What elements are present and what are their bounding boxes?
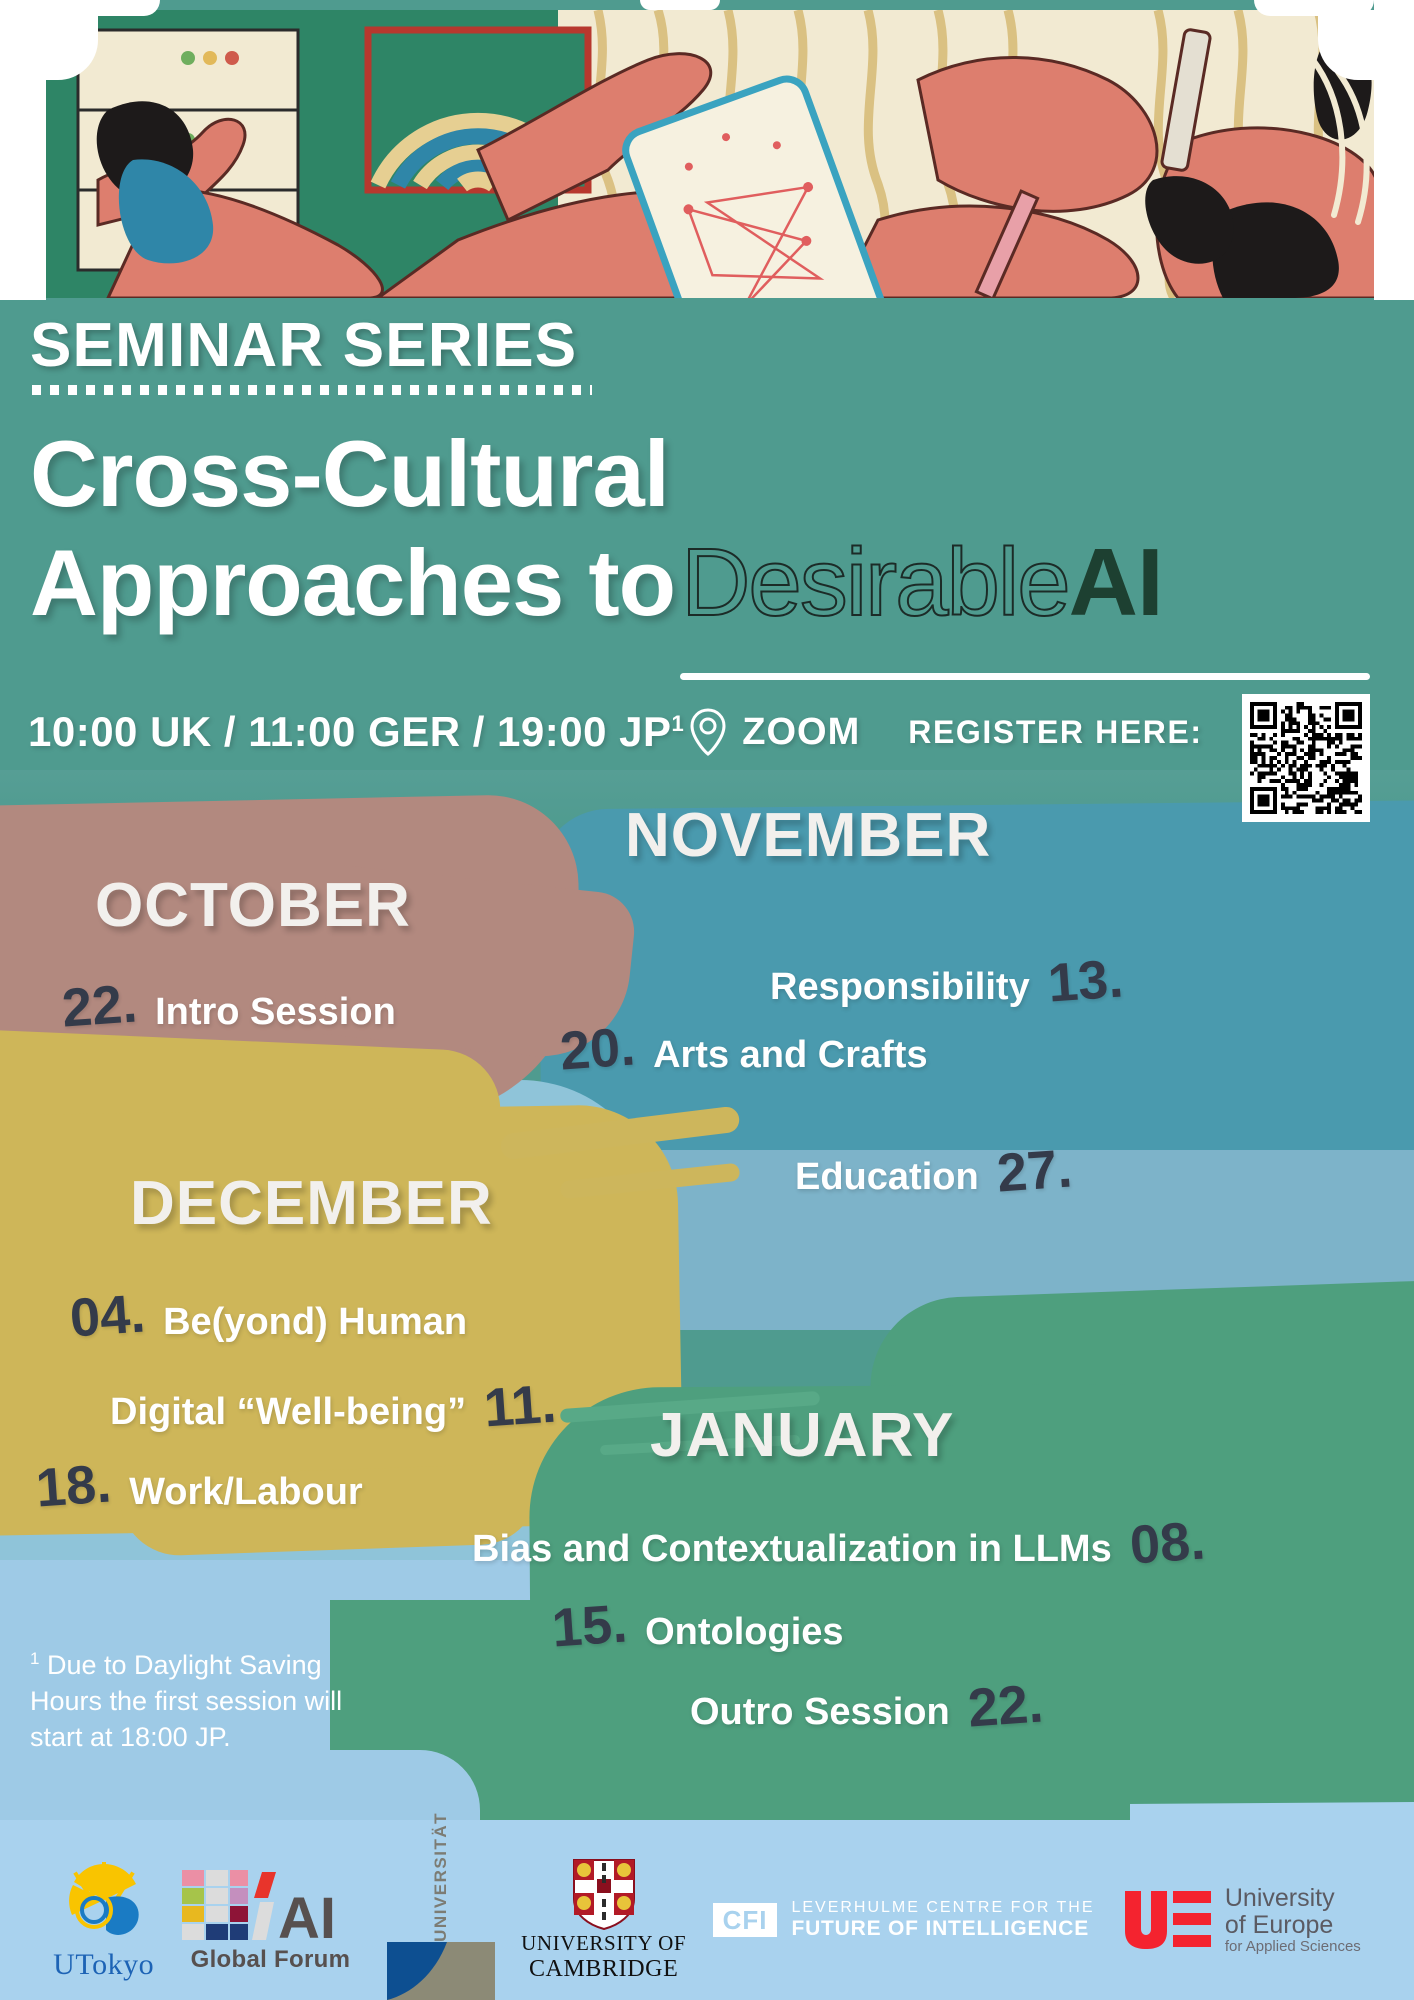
month-heading-october: OCTOBER	[95, 870, 411, 941]
page-title-line2-text: Approaches to	[30, 529, 675, 637]
session-november-20: 20. Arts and Crafts	[560, 1018, 928, 1080]
logo-universitat-bonn: UNIVERSITÄT BONN	[387, 1812, 495, 2000]
ue-line3: for Applied Sciences	[1225, 1938, 1361, 1955]
session-december-11: Digital “Well-being” 11.	[110, 1375, 556, 1437]
month-heading-january: JANUARY	[650, 1400, 954, 1471]
times-footnote-marker: 1	[672, 711, 685, 736]
logo-bai-global-forum: B AI Global Forum	[180, 1866, 360, 1974]
logo-cfi: CFI LEVERHULME CENTRE FOR THE FUTURE OF …	[713, 1899, 1095, 1941]
session-day: 04.	[68, 1282, 147, 1349]
utokyo-mark-icon	[58, 1858, 150, 1944]
bonn-mark-icon: BONN	[387, 1942, 495, 2000]
cambridge-line2: CAMBRIDGE	[529, 1956, 678, 1983]
logo-university-of-europe: University of Europe for Applied Science…	[1121, 1885, 1361, 1955]
poster-root: SEMINAR SERIES Cross-Cultural Approaches…	[0, 0, 1414, 2000]
logo-university-of-cambridge: UNIVERSITY OF CAMBRIDGE	[521, 1857, 686, 1983]
dotted-divider	[32, 385, 592, 395]
register-here-label: REGISTER HERE:	[908, 714, 1202, 751]
cambridge-line1: UNIVERSITY OF	[521, 1931, 686, 1956]
logo-utokyo: UTokyo	[53, 1858, 154, 1982]
session-day: 22.	[60, 972, 139, 1039]
illustration-cap-center	[640, 0, 720, 10]
session-title: Intro Session	[155, 991, 396, 1034]
session-november-27: Education 27.	[795, 1140, 1072, 1202]
svg-text:AI: AI	[278, 1886, 336, 1944]
session-title: Responsibility	[770, 966, 1030, 1009]
brand-desirable: Desirable	[681, 528, 1069, 638]
illustration-cap-right	[1254, 0, 1374, 16]
utokyo-label: UTokyo	[53, 1948, 154, 1982]
illustration-cap-left	[40, 0, 160, 16]
session-day: 27.	[995, 1137, 1074, 1204]
footnote-text: Due to Daylight Saving Hours the first s…	[30, 1650, 342, 1752]
cfi-line2: FUTURE OF INTELLIGENCE	[791, 1917, 1094, 1941]
month-heading-november: NOVEMBER	[625, 800, 991, 871]
session-january-08: Bias and Contextualization in LLMs 08.	[472, 1512, 1205, 1574]
session-title: Ontologies	[645, 1611, 843, 1654]
platform-label: ZOOM	[742, 711, 860, 754]
cfi-mark: CFI	[713, 1903, 778, 1938]
footnote: 1 Due to Daylight Saving Hours the first…	[30, 1648, 370, 1756]
session-day: 13.	[1046, 947, 1125, 1014]
location-pin-icon	[688, 707, 728, 757]
cambridge-crest-icon	[571, 1857, 637, 1931]
ue-line2: of Europe	[1225, 1912, 1361, 1938]
session-december-18: 18. Work/Labour	[36, 1455, 363, 1517]
session-title: Bias and Contextualization in LLMs	[472, 1528, 1112, 1571]
session-january-22: Outro Session 22.	[690, 1675, 1043, 1737]
page-margin-right	[1374, 0, 1414, 300]
session-day: 15.	[550, 1592, 629, 1659]
cfi-line1: LEVERHULME CENTRE FOR THE	[791, 1899, 1094, 1917]
session-title: Digital “Well-being”	[110, 1391, 466, 1434]
bai-mark-icon: B AI	[180, 1866, 360, 1944]
page-title-line1: Cross-Cultural	[30, 420, 669, 528]
session-day: 22.	[966, 1672, 1045, 1739]
qr-code-image	[1250, 702, 1362, 814]
session-november-13: Responsibility 13.	[770, 950, 1123, 1012]
session-day: 08.	[1128, 1509, 1207, 1576]
page-title-line2: Approaches to Desirable AI	[30, 528, 1163, 638]
session-times: 10:00 UK / 11:00 GER / 19:00 JP1	[28, 708, 684, 756]
session-title: Be(yond) Human	[163, 1301, 467, 1344]
session-day: 11.	[482, 1373, 558, 1440]
session-december-04: 04. Be(yond) Human	[70, 1285, 467, 1347]
footer-logos: UTokyo B	[0, 1840, 1414, 2000]
kicker-seminar-series: SEMINAR SERIES	[30, 310, 577, 381]
session-january-15: 15. Ontologies	[552, 1595, 844, 1657]
session-title: Arts and Crafts	[653, 1034, 928, 1077]
session-october-22: 22. Intro Session	[62, 975, 396, 1037]
page-margin-left	[0, 0, 46, 300]
session-title: Outro Session	[690, 1691, 950, 1734]
brand-ai: AI	[1069, 528, 1163, 638]
bai-label: Global Forum	[191, 1946, 351, 1974]
session-title: Work/Labour	[129, 1471, 363, 1514]
qr-code[interactable]	[1242, 694, 1370, 822]
header-illustration	[38, 10, 1378, 298]
session-times-text: 10:00 UK / 11:00 GER / 19:00 JP	[28, 708, 672, 755]
ue-mark-icon	[1121, 1889, 1213, 1951]
session-day: 18.	[34, 1452, 113, 1519]
header-rule	[680, 673, 1370, 680]
bonn-universitat-label: UNIVERSITÄT	[431, 1812, 451, 1942]
schedule-meta-row: 10:00 UK / 11:00 GER / 19:00 JP1 ZOOM RE…	[28, 707, 1203, 757]
month-heading-december: DECEMBER	[130, 1168, 493, 1239]
ue-line1: University	[1225, 1885, 1361, 1911]
session-title: Education	[795, 1156, 979, 1199]
session-day: 20.	[558, 1015, 637, 1082]
